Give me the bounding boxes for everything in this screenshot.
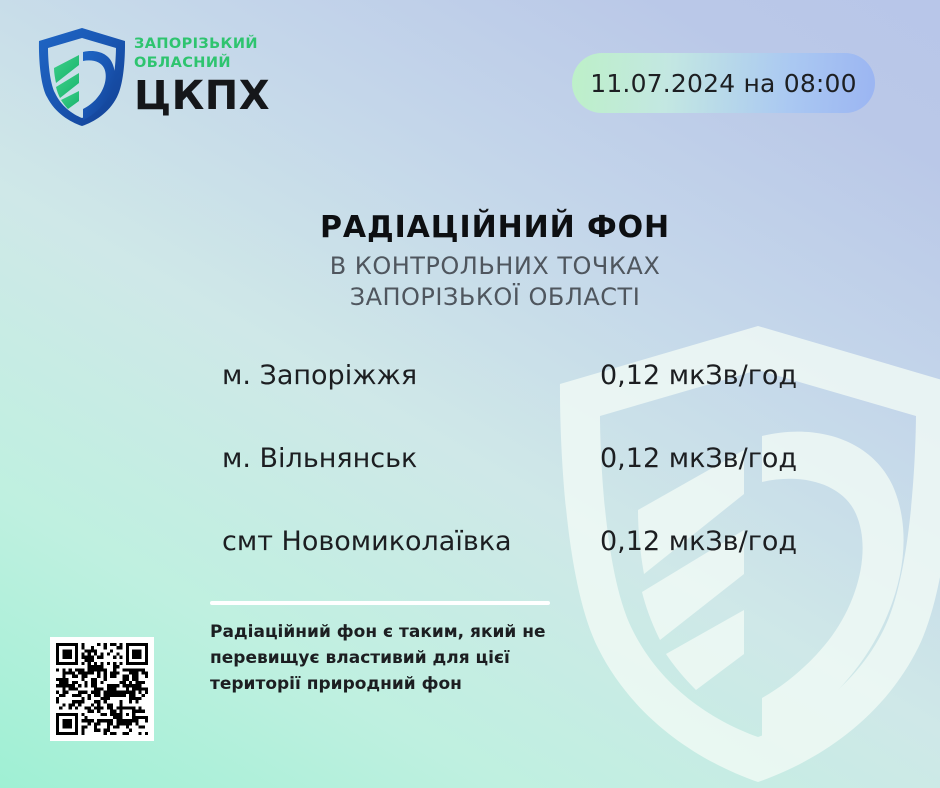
measurement-location: м. Запоріжжя (222, 360, 417, 391)
measurement-location: смт Новомиколаївка (222, 526, 512, 557)
brand-line-1: ЗАПОРІЗЬКИЙ (134, 35, 270, 54)
radiation-background-poster: ЗАПОРІЗЬКИЙ ОБЛАСНИЙ ЦКПХ 11.07.2024 на … (0, 0, 940, 788)
measurement-location: м. Вільнянськ (222, 443, 417, 474)
footnote-line-2: перевищує властивий для цієї (210, 646, 562, 672)
brand-logo: ЗАПОРІЗЬКИЙ ОБЛАСНИЙ ЦКПХ (36, 26, 270, 126)
footnote-text: Радіаційний фон є таким, який не перевищ… (210, 620, 562, 697)
measurement-value: 0,12 мкЗв/год (600, 443, 797, 474)
title-block: РАДІАЦІЙНИЙ ФОН В КОНТРОЛЬНИХ ТОЧКАХ ЗАП… (0, 210, 940, 313)
measurement-value: 0,12 мкЗв/год (600, 526, 797, 557)
shield-logo-icon (36, 26, 128, 126)
page-title: РАДІАЦІЙНИЙ ФОН (0, 210, 940, 245)
brand-wordmark: ЗАПОРІЗЬКИЙ ОБЛАСНИЙ ЦКПХ (134, 26, 270, 117)
footnote-line-1: Радіаційний фон є таким, який не (210, 620, 562, 646)
page-subtitle-line-1: В КОНТРОЛЬНИХ ТОЧКАХ (0, 251, 940, 282)
brand-line-2: ОБЛАСНИЙ (134, 54, 270, 73)
footnote-line-3: території природний фон (210, 672, 562, 698)
measurement-row: м. Вільнянськ 0,12 мкЗв/год (0, 443, 940, 526)
date-badge: 11.07.2024 на 08:00 (572, 53, 875, 113)
measurement-row: смт Новомиколаївка 0,12 мкЗв/год (0, 526, 940, 609)
footnote-divider (210, 601, 550, 605)
date-badge-text: 11.07.2024 на 08:00 (590, 69, 857, 98)
qr-code-icon[interactable] (50, 637, 154, 741)
brand-abbreviation: ЦКПХ (134, 76, 270, 117)
page-subtitle-line-2: ЗАПОРІЗЬКОЇ ОБЛАСТІ (0, 282, 940, 313)
measurement-value: 0,12 мкЗв/год (600, 360, 797, 391)
measurement-row: м. Запоріжжя 0,12 мкЗв/год (0, 360, 940, 443)
measurements-list: м. Запоріжжя 0,12 мкЗв/год м. Вільнянськ… (0, 360, 940, 609)
